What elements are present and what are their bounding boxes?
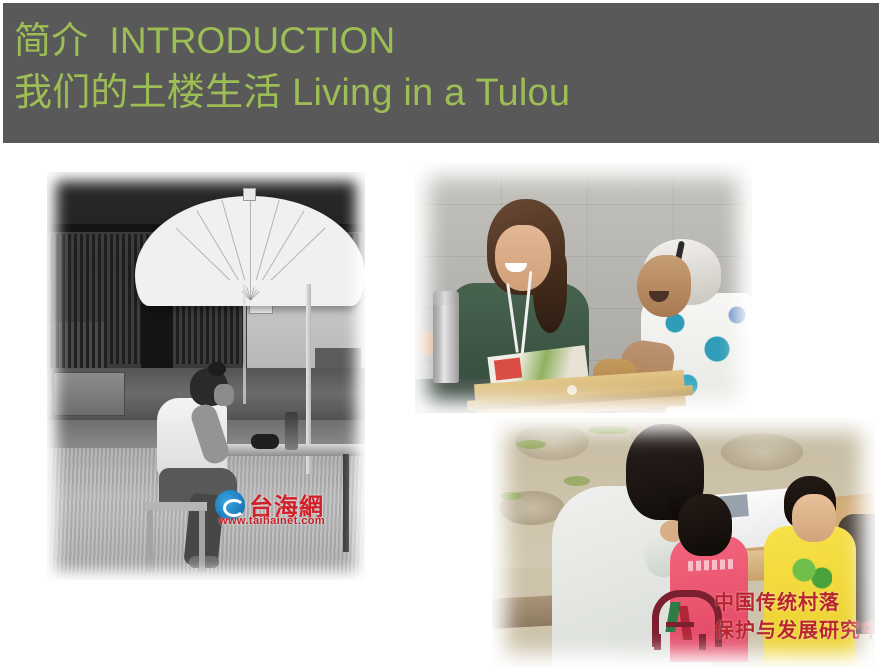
wooden-crate xyxy=(53,372,125,416)
page-subtitle-line-2: 我们的土楼生活 Living in a Tulou xyxy=(14,67,570,118)
photo-young-woman-with-elderly-woman xyxy=(415,163,752,413)
thermos-cap xyxy=(433,291,459,305)
boy-face xyxy=(792,494,836,542)
page-title-english: INTRODUCTION xyxy=(109,20,395,61)
girl-hair xyxy=(678,494,732,556)
traditional-village-research-center-icon xyxy=(652,590,708,646)
loom-knob xyxy=(567,385,577,395)
wooden-stool-seat xyxy=(145,502,207,511)
photo-woman-writing-under-umbrella: 台海網 www.taihainet.com xyxy=(47,172,365,580)
page-title-line-1: 简介 INTRODUCTION xyxy=(14,17,395,65)
slide-header-band: 简介 INTRODUCTION 我们的土楼生活 Living in a Tulo… xyxy=(3,3,879,143)
red-paper-detail xyxy=(494,357,522,380)
person-face xyxy=(214,384,234,406)
young-woman-face xyxy=(495,225,551,291)
steel-thermos xyxy=(433,297,459,383)
photo-2-scene xyxy=(415,163,752,413)
moss-patch xyxy=(564,476,590,486)
moss-patch xyxy=(516,440,546,449)
page-title-chinese: 简介 xyxy=(14,19,88,62)
logo-text-line-1: 中国传统村落 xyxy=(714,588,840,616)
logo-text-line-2: 保护与发展研究中心 xyxy=(714,616,875,644)
research-center-logo: 中国传统村落 保护与发展研究中心 xyxy=(652,586,867,650)
stool-leg-right xyxy=(199,510,205,572)
slide-canvas: 简介 INTRODUCTION 我们的土楼生活 Living in a Tulo… xyxy=(0,0,879,672)
stool-leg-left xyxy=(147,510,153,572)
watermark-url-text: www.taihainet.com xyxy=(219,515,325,527)
moss-patch xyxy=(588,426,630,434)
page-subtitle-chinese: 我们的土楼生活 xyxy=(14,70,281,114)
person-hair-bun xyxy=(208,362,226,376)
moss-patch xyxy=(500,492,522,500)
taihainet-watermark: 台海網 www.taihainet.com xyxy=(215,486,365,530)
umbrella-pole-secondary xyxy=(243,284,246,404)
dark-bag-on-table xyxy=(251,434,279,449)
umbrella-scalloped-edge xyxy=(135,280,365,300)
elderly-woman-face xyxy=(637,255,691,317)
water-bottle xyxy=(285,412,298,450)
page-subtitle-english: Living in a Tulou xyxy=(292,72,570,114)
photo-adult-and-children-at-table: 中国传统村落 保护与发展研究中心 xyxy=(492,418,875,667)
umbrella-finial xyxy=(243,188,256,201)
